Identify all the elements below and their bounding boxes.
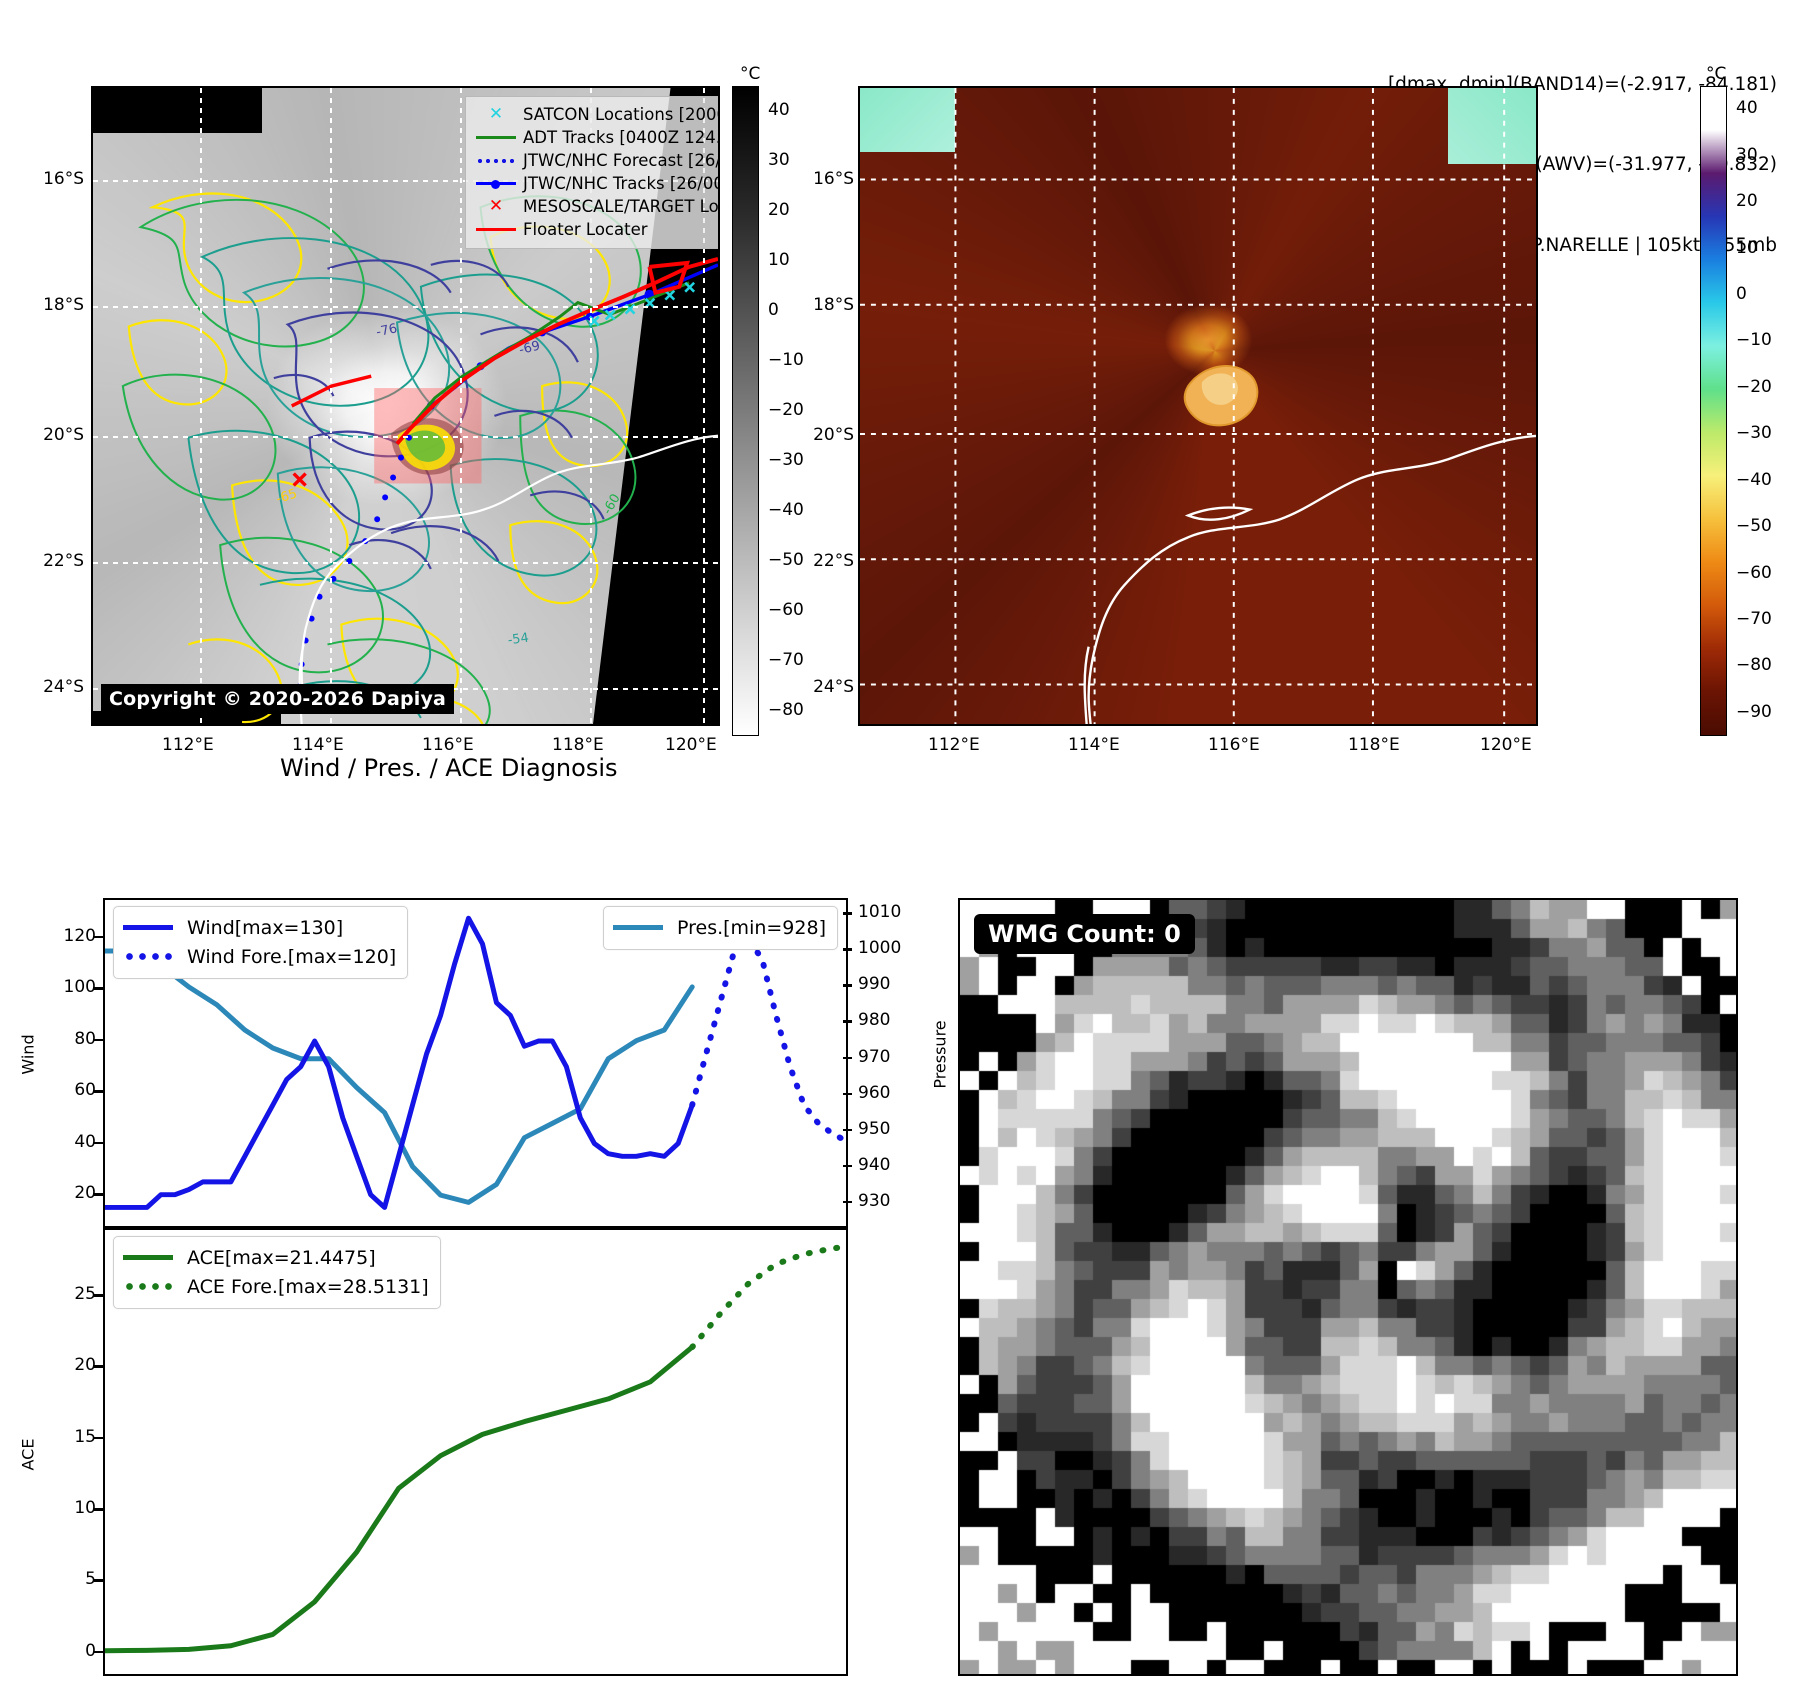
y-tick-930: 930 bbox=[858, 1191, 890, 1211]
colorbar-unit-left: °C bbox=[740, 64, 760, 84]
lat-label-right-22S: 22°S bbox=[806, 551, 854, 571]
y-tick-20: 20 bbox=[26, 1355, 96, 1375]
y-tick-40: 40 bbox=[26, 1132, 96, 1152]
colorbar-tick-minus90: −90 bbox=[1736, 702, 1772, 722]
floater-line-icon bbox=[473, 228, 519, 231]
mesoscale-target-marker bbox=[294, 474, 306, 486]
colorbar-tick-10: 10 bbox=[1736, 238, 1758, 258]
y-tickmark bbox=[843, 1129, 852, 1132]
lat-label-22S: 22°S bbox=[36, 551, 84, 571]
colorbar-tick-minus60: −60 bbox=[768, 600, 804, 620]
map-legend: ✕ SATCON Locations [2000Z 102 940] ADT T… bbox=[465, 96, 720, 249]
colorbar-tick-minus10: −10 bbox=[1736, 330, 1772, 350]
y-tickmark bbox=[94, 936, 103, 939]
contour-label-65: -65 bbox=[274, 486, 299, 507]
y-tickmark bbox=[94, 1651, 103, 1654]
wind-line-icon bbox=[123, 925, 179, 930]
wind-axis-title: Wind bbox=[19, 1025, 38, 1085]
svg-text:-65: -65 bbox=[274, 486, 299, 507]
colorbar-tick-30: 30 bbox=[768, 150, 790, 170]
lon-label-116E: 116°E bbox=[422, 735, 474, 755]
y-tickmark bbox=[94, 1294, 103, 1297]
lat-label-right-20S: 20°S bbox=[806, 425, 854, 445]
y-tickmark bbox=[94, 1039, 103, 1042]
y-tickmark bbox=[843, 1057, 852, 1060]
graticule-lat-18 bbox=[93, 306, 718, 308]
graticule-lat-22 bbox=[93, 562, 718, 564]
legend-item-pressure: Pres.[min=928] bbox=[613, 913, 826, 942]
wind-pressure-chart[interactable]: Wind[max=130] Wind Fore.[max=120] Pres.[… bbox=[103, 898, 848, 1228]
lat-label-20S: 20°S bbox=[36, 425, 84, 445]
lon-label-114E: 114°E bbox=[292, 735, 344, 755]
graticule-lon-116 bbox=[460, 88, 462, 724]
lon-label-right-118E: 118°E bbox=[1348, 735, 1400, 755]
svg-text:-54: -54 bbox=[507, 631, 530, 649]
contour-label-60: -60 bbox=[600, 491, 624, 517]
colorbar-tick-minus80: −80 bbox=[768, 700, 804, 720]
colorbar-tick-40: 40 bbox=[1736, 98, 1758, 118]
y-tickmark bbox=[94, 1579, 103, 1582]
y-tickmark bbox=[843, 1093, 852, 1096]
ace-forecast-dots-icon bbox=[123, 1283, 179, 1290]
y-tick-5: 5 bbox=[26, 1569, 96, 1589]
lon-label-right-120E: 120°E bbox=[1480, 735, 1532, 755]
track-marker-icon bbox=[473, 179, 519, 189]
y-tickmark bbox=[843, 1020, 852, 1023]
colorbar-tick-minus70: −70 bbox=[768, 650, 804, 670]
colorbar-tick-minus20: −20 bbox=[1736, 377, 1772, 397]
lon-label-118E: 118°E bbox=[552, 735, 604, 755]
legend-item-ace: ACE[max=21.4475] bbox=[123, 1243, 429, 1272]
pressure-legend: Pres.[min=928] bbox=[603, 906, 838, 950]
copyright-notice: Copyright © 2020-2026 Dapiya bbox=[101, 684, 454, 714]
svg-text:-60: -60 bbox=[600, 491, 624, 517]
graticule-lon-114 bbox=[330, 88, 332, 724]
y-tickmark bbox=[843, 1165, 852, 1168]
band14-colorbar: °C 403020100−10−20−30−40−50−60−70−80 bbox=[732, 64, 832, 736]
colorbar-tick-20: 20 bbox=[1736, 191, 1758, 211]
lon-label-right-116E: 116°E bbox=[1208, 735, 1260, 755]
y-tick-980: 980 bbox=[858, 1010, 890, 1030]
y-tick-100: 100 bbox=[26, 977, 96, 997]
wmg-count-badge: WMG Count: 0 bbox=[974, 914, 1195, 954]
pressure-axis-title: Pressure bbox=[931, 1015, 950, 1095]
ace-legend: ACE[max=21.4475] ACE Fore.[max=28.5131] bbox=[113, 1236, 441, 1309]
band14-target-area-map[interactable]: -76 -69 -54 -60 -65 bbox=[91, 86, 720, 726]
legend-item-wind-forecast: Wind Fore.[max=120] bbox=[123, 942, 396, 971]
y-tick-1010: 1010 bbox=[858, 902, 901, 922]
lat-label-24S: 24°S bbox=[36, 677, 84, 697]
enhanced-ir-colorbar: °C 403020100−10−20−30−40−50−60−70−80−90 bbox=[1700, 64, 1797, 736]
colorbar-tick-20: 20 bbox=[768, 200, 790, 220]
jtwc-forecast-dots bbox=[295, 435, 412, 711]
colorbar-tick-10: 10 bbox=[768, 250, 790, 270]
y-tick-20: 20 bbox=[26, 1183, 96, 1203]
legend-item-jtwc-tracks: JTWC/NHC Tracks [26/0000Z] bbox=[473, 172, 720, 195]
y-tick-970: 970 bbox=[858, 1047, 890, 1067]
y-tick-25: 25 bbox=[26, 1284, 96, 1304]
contour-label-54: -54 bbox=[507, 631, 530, 649]
y-tick-0: 0 bbox=[26, 1641, 96, 1661]
legend-item-jtwc-forecast: JTWC/NHC Forecast [26/0000Z] bbox=[473, 149, 720, 172]
dashboard-root: HIMAWARI-9 BAND14-DIAS TARGET AREA Time:… bbox=[0, 0, 1797, 1690]
y-tick-990: 990 bbox=[858, 974, 890, 994]
colorbar-tick-minus10: −10 bbox=[768, 350, 804, 370]
colorbar-tick-minus20: −20 bbox=[768, 400, 804, 420]
y-tick-950: 950 bbox=[858, 1119, 890, 1139]
colorbar-tick-minus70: −70 bbox=[1736, 609, 1772, 629]
pressure-line-icon bbox=[613, 925, 669, 930]
colorbar-tick-0: 0 bbox=[768, 300, 779, 320]
y-tickmark bbox=[843, 1201, 852, 1204]
graticule-lat-20 bbox=[93, 436, 718, 438]
legend-item-floater: Floater Locater bbox=[473, 218, 720, 241]
y-tickmark bbox=[94, 1193, 103, 1196]
y-tickmark bbox=[94, 1090, 103, 1093]
lon-label-right-112E: 112°E bbox=[928, 735, 980, 755]
coastline bbox=[300, 436, 718, 724]
coastline-right bbox=[1085, 436, 1536, 724]
contour-label-76: -76 bbox=[375, 321, 399, 340]
colorbar-gradient-left bbox=[732, 86, 759, 736]
colorbar-tick-minus40: −40 bbox=[768, 500, 804, 520]
enhanced-ir-map[interactable] bbox=[858, 86, 1538, 726]
legend-item-wind: Wind[max=130] bbox=[123, 913, 396, 942]
svg-text:-76: -76 bbox=[375, 321, 399, 340]
colorbar-unit-right: °C bbox=[1706, 64, 1726, 84]
y-tickmark bbox=[843, 948, 852, 951]
wmg-mosaic-panel[interactable]: WMG Count: 0 bbox=[958, 898, 1738, 1676]
y-tick-1000: 1000 bbox=[858, 938, 901, 958]
lon-label-right-114E: 114°E bbox=[1068, 735, 1120, 755]
lat-label-18S: 18°S bbox=[36, 295, 84, 315]
lat-label-right-18S: 18°S bbox=[806, 295, 854, 315]
lat-label-right-24S: 24°S bbox=[806, 677, 854, 697]
satcon-x-icon: ✕ bbox=[473, 106, 519, 123]
lon-label-120E: 120°E bbox=[665, 735, 717, 755]
legend-item-adt: ADT Tracks [0400Z 124.6 935.5] bbox=[473, 126, 720, 149]
y-tick-10: 10 bbox=[26, 1498, 96, 1518]
ace-series-line bbox=[105, 1347, 692, 1651]
ace-forecast-series-line bbox=[692, 1247, 846, 1347]
wind-forecast-series-line bbox=[692, 939, 846, 1141]
wind-pres-ace-title: Wind / Pres. / ACE Diagnosis bbox=[280, 754, 618, 782]
lat-label-16S: 16°S bbox=[36, 169, 84, 189]
y-tickmark bbox=[94, 1508, 103, 1511]
y-tickmark bbox=[843, 984, 852, 987]
colorbar-tick-minus40: −40 bbox=[1736, 470, 1772, 490]
colorbar-tick-40: 40 bbox=[768, 100, 790, 120]
colorbar-tick-0: 0 bbox=[1736, 284, 1747, 304]
colorbar-tick-minus50: −50 bbox=[768, 550, 804, 570]
colorbar-gradient-right bbox=[1700, 86, 1727, 736]
graticule-lon-112 bbox=[200, 88, 202, 724]
ace-chart[interactable]: ACE[max=21.4475] ACE Fore.[max=28.5131] bbox=[103, 1228, 848, 1676]
adt-line-icon bbox=[473, 136, 519, 139]
y-tickmark bbox=[94, 1437, 103, 1440]
colorbar-tick-minus30: −30 bbox=[1736, 423, 1772, 443]
legend-item-satcon: ✕ SATCON Locations [2000Z 102 940] bbox=[473, 103, 720, 126]
y-tickmark bbox=[843, 912, 852, 915]
y-tick-120: 120 bbox=[26, 926, 96, 946]
colorbar-tick-minus30: −30 bbox=[768, 450, 804, 470]
enhanced-ir-overlay bbox=[860, 88, 1536, 724]
y-tick-960: 960 bbox=[858, 1083, 890, 1103]
colorbar-tick-30: 30 bbox=[1736, 145, 1758, 165]
wind-forecast-dots-icon bbox=[123, 953, 179, 960]
forecast-dots-icon bbox=[473, 159, 519, 163]
ace-line-icon bbox=[123, 1255, 179, 1260]
y-tickmark bbox=[94, 987, 103, 990]
wmg-mosaic-canvas bbox=[960, 900, 1738, 1676]
y-tick-940: 940 bbox=[858, 1155, 890, 1175]
lon-label-112E: 112°E bbox=[162, 735, 214, 755]
ace-axis-title: ACE bbox=[19, 1425, 38, 1485]
lat-label-right-16S: 16°S bbox=[806, 169, 854, 189]
legend-item-mesoscale: ✕ MESOSCALE/TARGET Location bbox=[473, 195, 720, 218]
y-tickmark bbox=[94, 1142, 103, 1145]
colorbar-tick-minus50: −50 bbox=[1736, 516, 1772, 536]
colorbar-tick-minus80: −80 bbox=[1736, 655, 1772, 675]
colorbar-tick-minus60: −60 bbox=[1736, 563, 1772, 583]
legend-item-ace-forecast: ACE Fore.[max=28.5131] bbox=[123, 1272, 429, 1301]
wind-legend: Wind[max=130] Wind Fore.[max=120] bbox=[113, 906, 408, 979]
y-tickmark bbox=[94, 1365, 103, 1368]
mesoscale-x-icon: ✕ bbox=[473, 198, 519, 215]
